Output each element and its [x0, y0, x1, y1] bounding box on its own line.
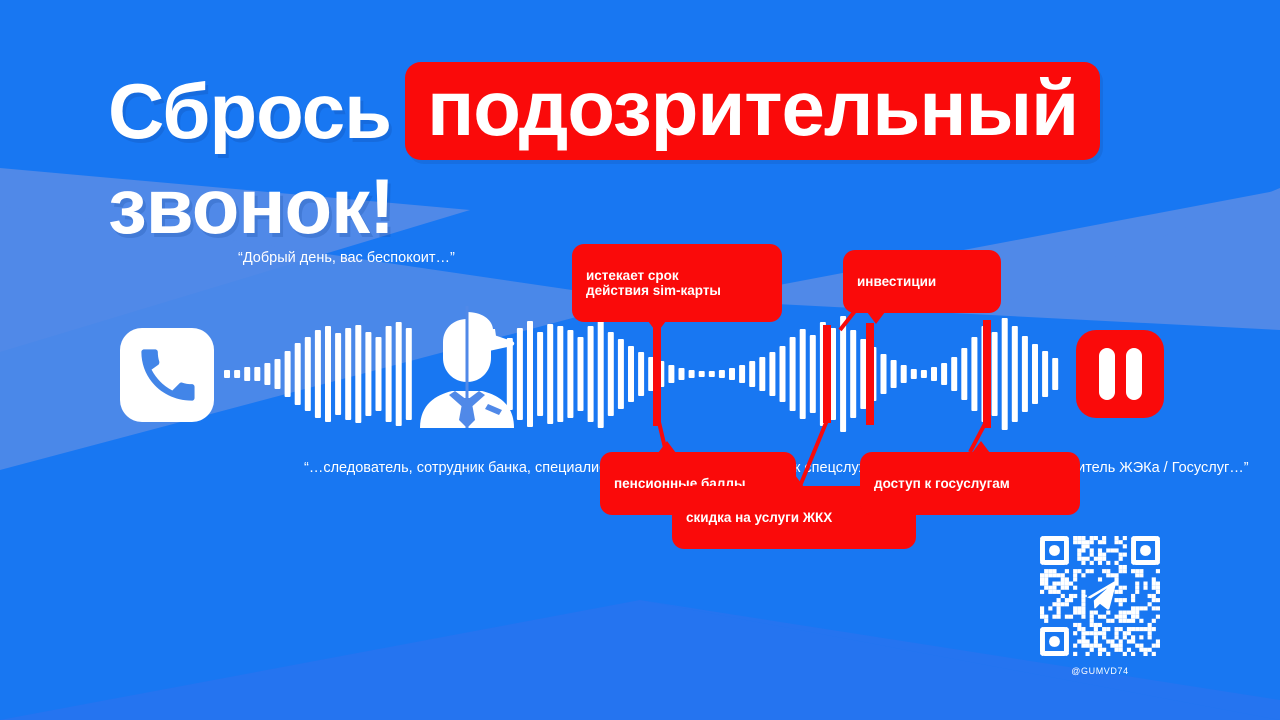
callout-tail — [972, 441, 990, 453]
callout-utilities-discount-label: скидка на услуги ЖКХ — [686, 510, 832, 525]
telegram-plane-icon — [1085, 581, 1116, 609]
callout-gosuslugi-access-label: доступ к госуслугам — [874, 476, 1010, 491]
qr-code-icon[interactable] — [1040, 536, 1160, 656]
callout-investments[interactable]: инвестиции — [843, 250, 1001, 313]
callout-gosuslugi-access[interactable]: доступ к госуслугам — [860, 452, 1080, 515]
callout-investments-label: инвестиции — [857, 274, 936, 289]
callout-tail — [786, 475, 804, 487]
callout-tail — [867, 312, 885, 324]
callout-sim-card[interactable]: истекает срок действия sim-карты — [572, 244, 782, 322]
qr-code-caption: @GUMVD74 — [1040, 666, 1160, 676]
callout-tail — [648, 321, 666, 333]
callout-sim-card-label: истекает срок действия sim-карты — [586, 268, 721, 298]
callout-tail — [658, 441, 676, 453]
poster-canvas: Сбрось подозрительный звонок! “Добрый де… — [0, 0, 1280, 720]
qr-code-block[interactable]: @GUMVD74 — [1040, 536, 1160, 676]
